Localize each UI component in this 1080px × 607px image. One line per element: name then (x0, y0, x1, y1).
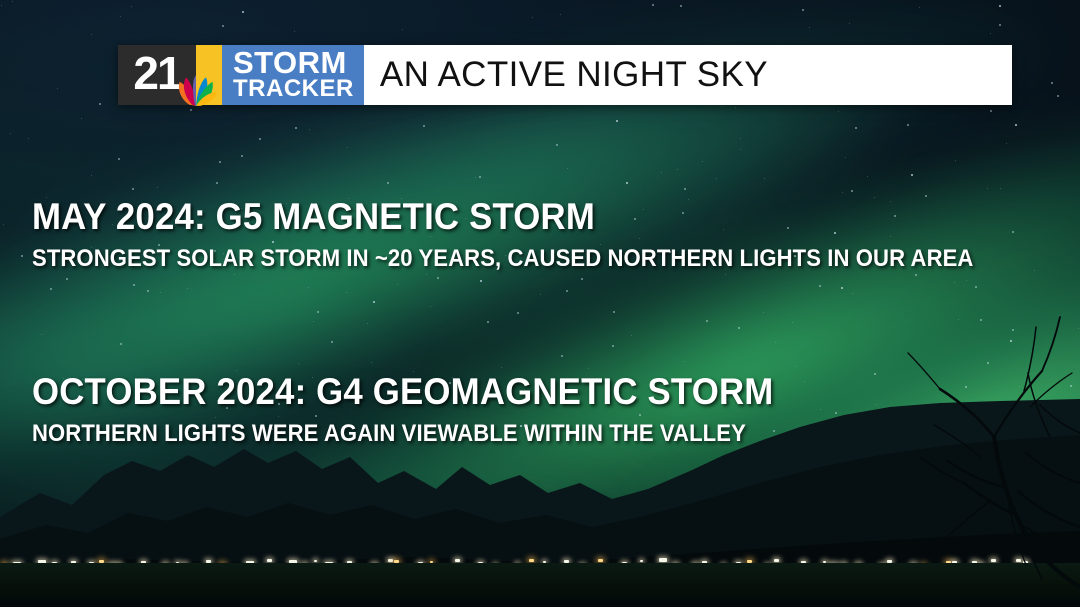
event-detail: NORTHERN LIGHTS WERE AGAIN VIEWABLE WITH… (32, 420, 758, 448)
event-headline: MAY 2024: G5 MAGNETIC STORM (32, 196, 994, 238)
event-headline: OCTOBER 2024: G4 GEOMAGNETIC STORM (32, 371, 773, 413)
page-title: AN ACTIVE NIGHT SKY (380, 55, 768, 95)
event-block-october: OCTOBER 2024: G4 GEOMAGNETIC STORM NORTH… (32, 371, 821, 448)
headline-bar: AN ACTIVE NIGHT SKY (364, 45, 1012, 105)
tracker-label: TRACKER (233, 78, 354, 100)
event-detail: STRONGEST SOLAR STORM IN ~20 YEARS, CAUS… (32, 245, 973, 273)
storm-tracker-block: STORM TRACKER (222, 45, 364, 105)
broadcast-graphic: 21 STORM TRACKER AN ACTIVE NIGHT SKY (0, 0, 1080, 607)
event-block-may: MAY 2024: G5 MAGNETIC STORM STRONGEST SO… (32, 196, 1055, 273)
tree-silhouette (890, 287, 1080, 607)
nbc-peacock-icon (168, 73, 224, 107)
storm-label: STORM (233, 49, 354, 78)
storm-tracker-logo-bar: 21 STORM TRACKER AN ACTIVE NIGHT SKY (118, 45, 1012, 105)
